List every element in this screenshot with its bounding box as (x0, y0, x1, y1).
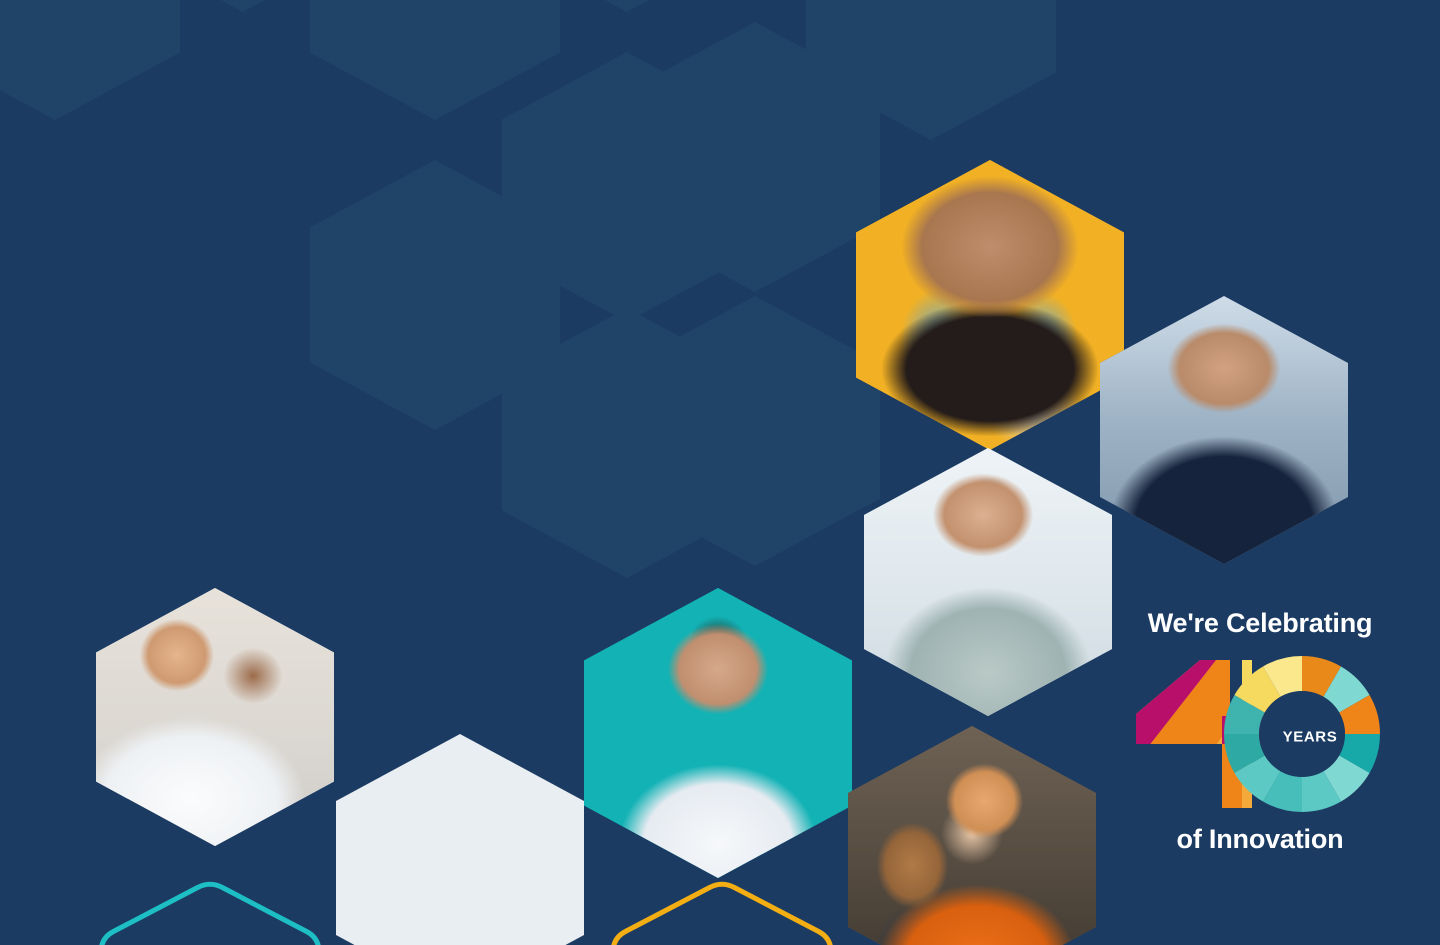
hexagon-outline-teal-path (101, 884, 319, 945)
background-hexagon (310, 0, 560, 120)
years-label: YEARS (1267, 729, 1353, 746)
hexagon-photo-doctor-image (584, 588, 852, 878)
hexagon-photo-school-pupils (96, 588, 334, 846)
background-hexagon (0, 0, 180, 120)
years-badge: YEARS (1267, 694, 1353, 780)
four-bar-orange (1164, 744, 1222, 774)
hexagon-photo-student-image (856, 160, 1124, 450)
hexagon-photo-teacher-image (336, 734, 584, 945)
hexagon-photo-school-pupils-image (96, 588, 334, 846)
hexagon-outline-gold-path (613, 884, 831, 945)
hexagon-photo-call-centre-agent (864, 448, 1112, 716)
hexagon-outline-gold (608, 876, 836, 945)
hexagon-photo-student (856, 160, 1124, 450)
hexagon-photo-teacher (336, 734, 584, 945)
celebration-banner: We're Celebrating (0, 0, 1440, 945)
anniversary-lockup: We're Celebrating (1112, 608, 1402, 880)
hexagon-photo-businessman-image (1100, 296, 1348, 564)
hexagon-photo-animal-care-worker (848, 726, 1096, 945)
innovation-subline: of Innovation (1120, 824, 1400, 855)
hexagon-photo-doctor (584, 588, 852, 878)
hexagon-photo-businessman (1100, 296, 1348, 564)
hexagon-photo-animal-care-worker-image (848, 726, 1096, 945)
celebrating-headline: We're Celebrating (1120, 608, 1400, 639)
hexagon-outline-teal (96, 876, 324, 945)
hexagon-photo-call-centre-agent-image (864, 448, 1112, 716)
forty-years-mark: YEARS (1134, 656, 1384, 816)
